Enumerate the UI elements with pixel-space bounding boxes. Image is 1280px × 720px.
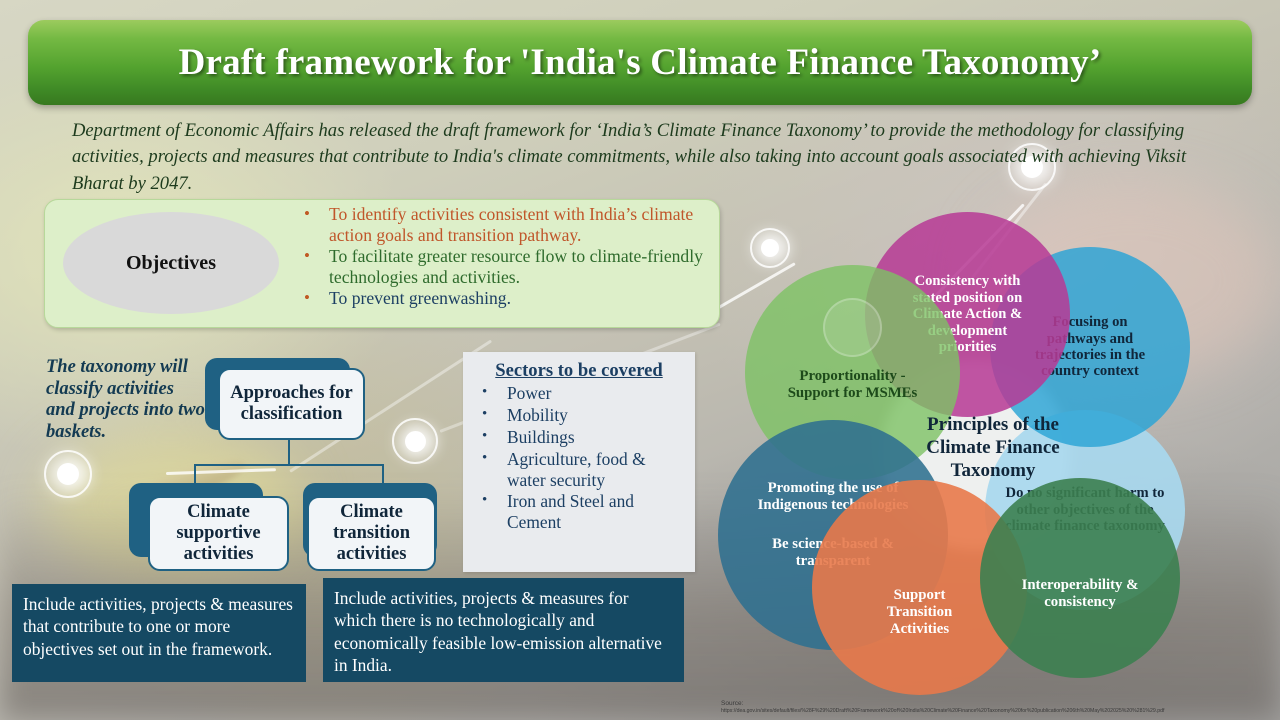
bullet-icon: • — [473, 427, 507, 448]
decor-node — [392, 418, 438, 464]
flow-connector — [288, 440, 290, 466]
venn-label: Interoperability & consistency — [993, 577, 1168, 611]
objectives-list: • To identify activities consistent with… — [295, 204, 710, 310]
flow-node-supportive: Climate supportive activities — [129, 483, 289, 571]
list-item: • To prevent greenwashing. — [295, 288, 710, 309]
list-item: • Buildings — [473, 427, 685, 448]
venn-label: Proportionality - Support for MSMEs — [773, 368, 933, 402]
source-url[interactable]: https://dea.gov.in/sites/default/files/%… — [721, 708, 1277, 715]
objectives-item-text: To identify activities consistent with I… — [329, 204, 710, 245]
objectives-item-text: To facilitate greater resource flow to c… — [329, 246, 710, 287]
bullet-icon: • — [295, 204, 329, 245]
list-item: • Mobility — [473, 405, 685, 426]
sectors-item-text: Agriculture, food & water security — [507, 449, 685, 491]
sectors-item-text: Mobility — [507, 405, 568, 426]
flow-node-supportive-label: Climate supportive activities — [148, 496, 289, 571]
objectives-item-text: To prevent greenwashing. — [329, 288, 511, 309]
list-item: • To identify activities consistent with… — [295, 204, 710, 245]
page-title: Draft framework for 'India's Climate Fin… — [179, 41, 1102, 84]
venn-label: Support Transition Activities — [860, 587, 980, 638]
list-item: • Power — [473, 383, 685, 404]
list-item: • Iron and Steel and Cement — [473, 491, 685, 533]
infographic-slide: Draft framework for 'India's Climate Fin… — [0, 0, 1280, 720]
supportive-description: Include activities, projects & measures … — [12, 584, 306, 682]
list-item: • To facilitate greater resource flow to… — [295, 246, 710, 287]
flow-node-transition: Climate transition activities — [303, 483, 463, 571]
bullet-icon: • — [295, 246, 329, 287]
bullet-icon: • — [295, 288, 329, 309]
bullet-icon: • — [473, 405, 507, 426]
flow-node-approaches-label: Approaches for classification — [218, 368, 365, 440]
flow-connector — [194, 464, 384, 466]
bullet-icon: • — [473, 449, 507, 491]
venn-circle-interoperability: Interoperability & consistency — [980, 478, 1180, 678]
title-banner: Draft framework for 'India's Climate Fin… — [28, 20, 1252, 105]
list-item: • Agriculture, food & water security — [473, 449, 685, 491]
source-citation: Source: https://dea.gov.in/sites/default… — [721, 700, 1277, 715]
sectors-card: Sectors to be covered • Power • Mobility… — [463, 352, 695, 572]
taxonomy-note: The taxonomy will classify activities an… — [46, 357, 206, 444]
sectors-item-text: Buildings — [507, 427, 575, 448]
intro-paragraph: Department of Economic Affairs has relea… — [72, 118, 1224, 197]
venn-inner-ring — [823, 298, 882, 357]
objectives-badge: Objectives — [63, 212, 279, 314]
sectors-item-text: Iron and Steel and Cement — [507, 491, 685, 533]
bullet-icon: • — [473, 491, 507, 533]
decor-node — [44, 450, 92, 498]
transition-description: Include activities, projects & measures … — [323, 578, 684, 682]
objectives-card: Objectives • To identify activities cons… — [44, 199, 720, 328]
venn-center-label: Principles of the Climate Finance Taxono… — [918, 414, 1068, 482]
objectives-heading: Objectives — [126, 252, 216, 275]
source-label: Source: — [721, 700, 1277, 708]
flow-node-approaches: Approaches for classification — [205, 358, 365, 440]
sectors-item-text: Power — [507, 383, 551, 404]
flow-node-transition-label: Climate transition activities — [307, 496, 436, 571]
bullet-icon: • — [473, 383, 507, 404]
sectors-heading: Sectors to be covered — [473, 360, 685, 382]
